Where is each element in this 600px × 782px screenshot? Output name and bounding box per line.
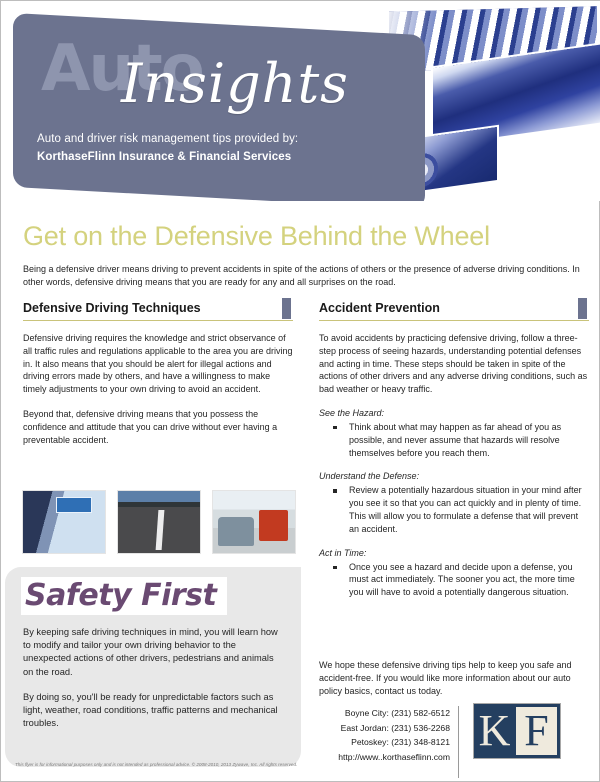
section-header-defensive-driving: Defensive Driving Techniques: [23, 299, 293, 321]
section-header-accident-prevention: Accident Prevention: [319, 299, 589, 321]
contact-website-link[interactable]: http://www..korthaseflinn.com: [319, 750, 450, 765]
road-lane-marking-photo: [118, 491, 200, 553]
logo-insights-text: Insights: [121, 57, 349, 111]
korthaseflinn-logo: K F: [473, 703, 561, 759]
section-title-text: Accident Prevention: [319, 301, 440, 315]
section-accent-square: [578, 298, 587, 319]
list-item: Review a potentially hazardous situation…: [333, 484, 589, 535]
logo-letter-f: F: [516, 707, 557, 755]
left-paragraph-1: Defensive driving requires the knowledge…: [23, 332, 293, 396]
right-column: Accident Prevention To avoid accidents b…: [319, 299, 589, 611]
list-item: Think about what may happen as far ahead…: [333, 421, 589, 459]
snow-accident-tow-truck-photo: [213, 491, 295, 553]
step-bullets-see-the-hazard: Think about what may happen as far ahead…: [319, 421, 589, 459]
contact-petoskey: Petoskey: (231) 348-8121: [319, 735, 450, 750]
logo-letter-k: K: [474, 704, 515, 758]
step-label-see-the-hazard: See the Hazard:: [319, 408, 589, 418]
header-banner: Auto Insights Auto and driver risk manag…: [1, 1, 600, 201]
safety-first-body: By keeping safe driving techniques in mi…: [23, 626, 285, 742]
side-mirror-highway-photo: [23, 491, 105, 553]
safety-paragraph-2: By doing so, you'll be ready for unpredi…: [23, 691, 285, 731]
left-paragraph-2: Beyond that, defensive driving means tha…: [23, 408, 293, 446]
right-intro-paragraph: To avoid accidents by practicing defensi…: [319, 332, 589, 396]
intro-paragraph: Being a defensive driver means driving t…: [23, 263, 581, 289]
disclaimer-text: This flyer is for informational purposes…: [15, 762, 315, 768]
step-bullets-understand-the-defense: Review a potentially hazardous situation…: [319, 484, 589, 535]
safety-first-title: Safety First: [21, 577, 227, 615]
banner-content: Auto Insights Auto and driver risk manag…: [13, 13, 425, 187]
contact-east-jordan: East Jordan: (231) 536-2268: [319, 721, 450, 736]
page-title: Get on the Defensive Behind the Wheel: [23, 221, 490, 252]
wrap-up-paragraph: We hope these defensive driving tips hel…: [319, 659, 589, 697]
section-accent-square: [282, 298, 291, 319]
step-label-understand-the-defense: Understand the Defense:: [319, 471, 589, 481]
list-item: Once you see a hazard and decide upon a …: [333, 561, 589, 599]
safety-paragraph-1: By keeping safe driving techniques in mi…: [23, 626, 285, 679]
left-column: Defensive Driving Techniques Defensive d…: [23, 299, 293, 458]
section-title-text: Defensive Driving Techniques: [23, 301, 201, 315]
contact-boyne-city: Boyne City: (231) 582-6512: [319, 706, 450, 721]
step-label-act-in-time: Act in Time:: [319, 548, 589, 558]
contact-block: Boyne City: (231) 582-6512 East Jordan: …: [319, 706, 459, 778]
banner-tagline-line2: KorthaseFlinn Insurance & Financial Serv…: [37, 151, 291, 163]
banner-tagline-line1: Auto and driver risk management tips pro…: [37, 133, 298, 145]
step-bullets-act-in-time: Once you see a hazard and decide upon a …: [319, 561, 589, 599]
